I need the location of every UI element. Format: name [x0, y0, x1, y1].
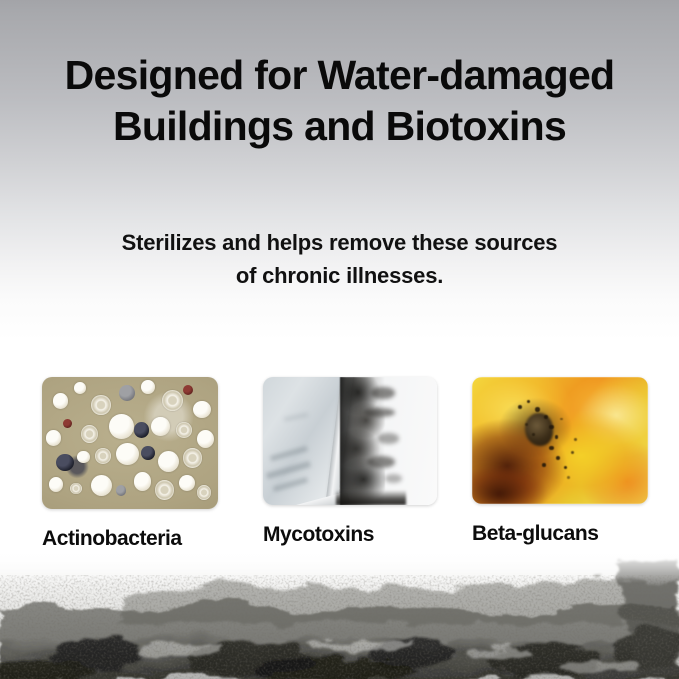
petri-dish-bacterial-colonies-image	[42, 377, 218, 509]
page-title-line-2: Buildings and Biotoxins	[0, 101, 679, 152]
source-card-label: Actinobacteria	[42, 527, 218, 551]
source-card-beta-glucans: Beta-glucans	[472, 377, 648, 546]
promotional-graphic: Designed for Water-damaged Buildings and…	[0, 0, 679, 679]
black-mould-window-corner-image	[263, 377, 437, 505]
page-subtitle-line-1: Sterilizes and helps remove these source…	[0, 226, 679, 259]
source-card-list: Actinobacteria	[0, 377, 679, 567]
fungal-spores-abstract-image	[472, 377, 648, 504]
source-card-label: Beta-glucans	[472, 522, 648, 546]
source-card-actinobacteria: Actinobacteria	[42, 377, 218, 551]
source-card-mycotoxins: Mycotoxins	[263, 377, 437, 547]
source-card-label: Mycotoxins	[263, 523, 437, 547]
page-title-line-1: Designed for Water-damaged	[0, 50, 679, 101]
water-damaged-mouldy-wall-texture-image	[0, 549, 679, 679]
page-title: Designed for Water-damaged Buildings and…	[0, 50, 679, 152]
page-subtitle: Sterilizes and helps remove these source…	[0, 226, 679, 292]
page-subtitle-line-2: of chronic illnesses.	[0, 259, 679, 292]
